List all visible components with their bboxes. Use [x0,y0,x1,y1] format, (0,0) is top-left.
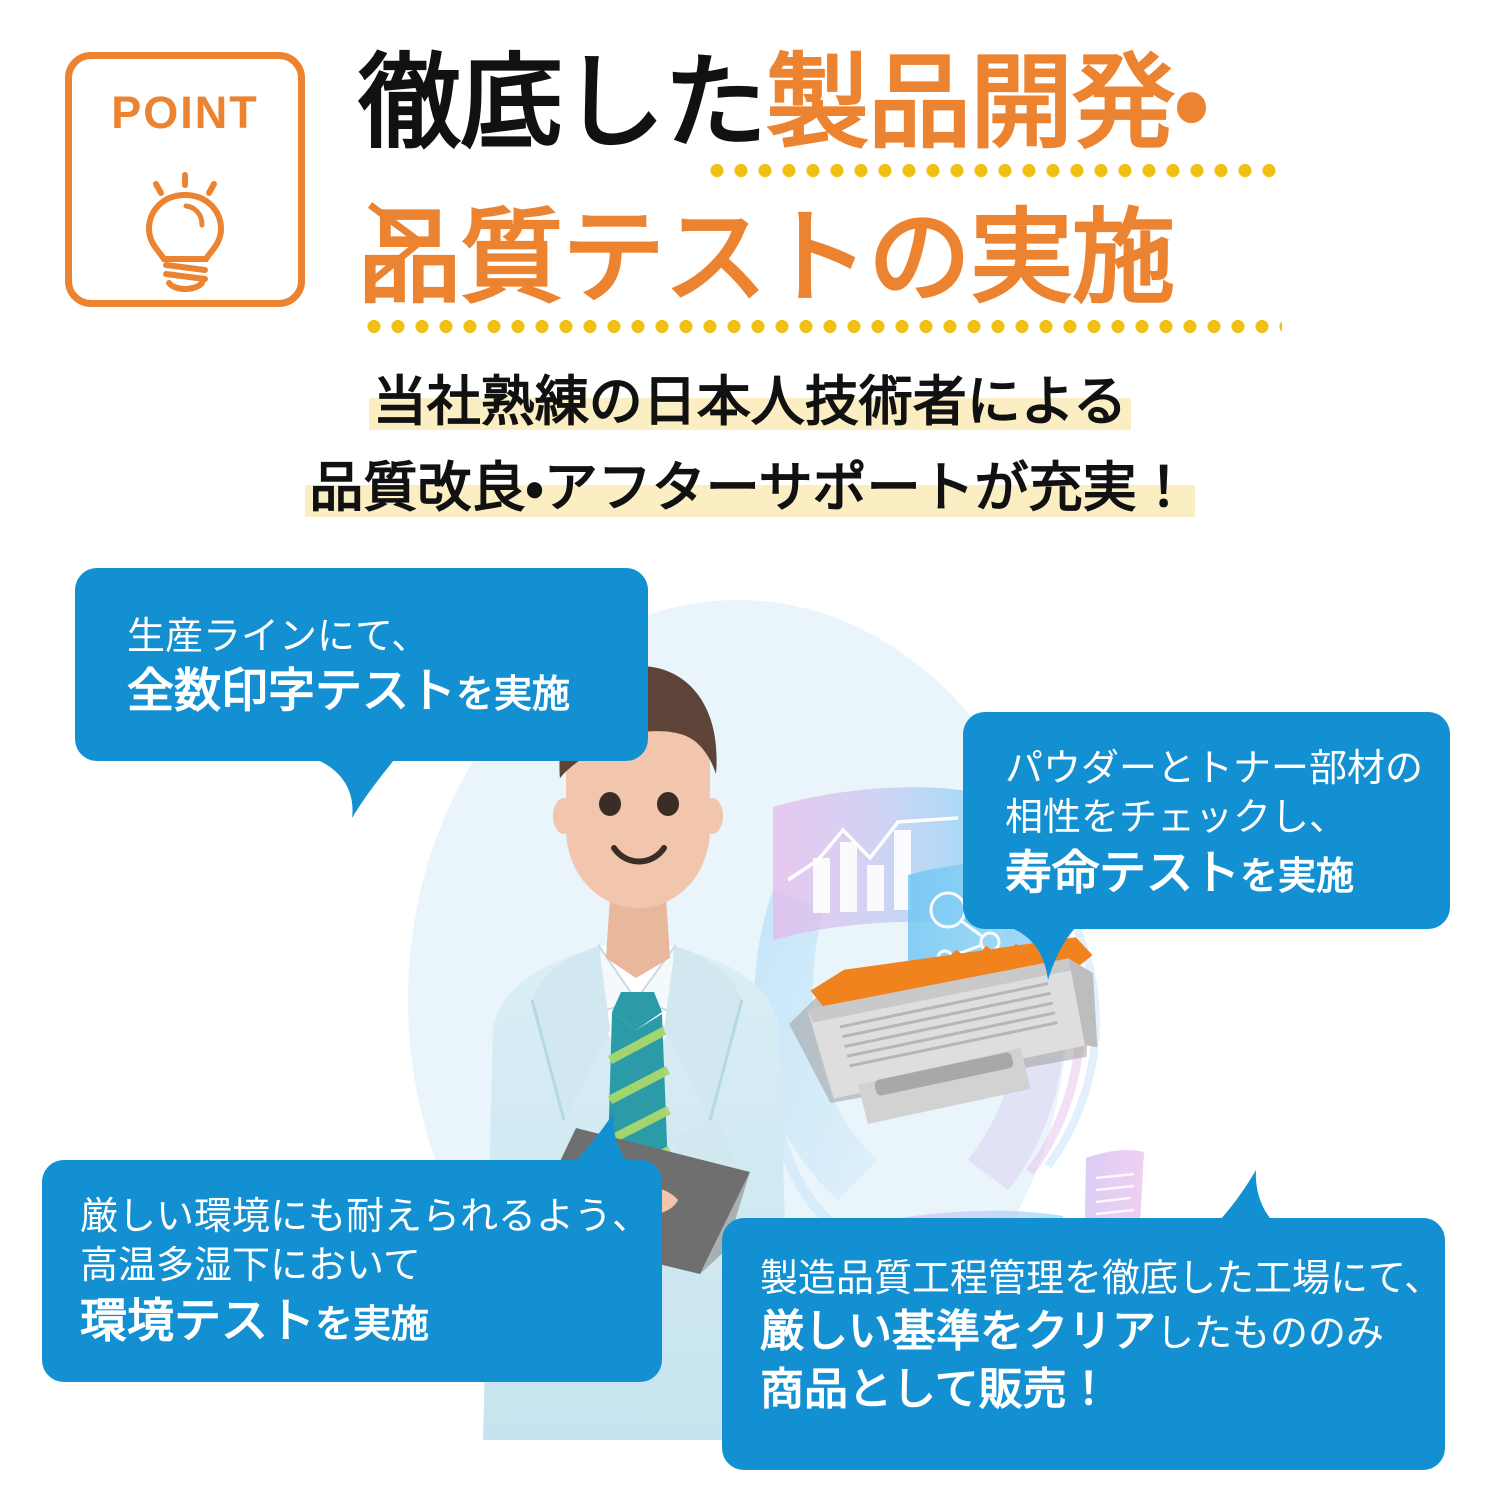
subtitle-row-2: 品質改良・アフターサポートが充実！ [0,452,1500,524]
subtitle-line-1: 当社熟練の日本人技術者による [373,370,1127,433]
headline-dotted-underline-1 [705,164,1280,177]
point-badge: POINT [65,52,305,307]
bubble-1-line-2: 全数印字テストを実施 [127,661,648,722]
factory-standard-bubble: 製造品質工程管理を徹底した工場にて、 厳しい基準をクリアしたもののみ 商品として… [722,1218,1445,1470]
subtitle: 当社熟練の日本人技術者による 品質改良・アフターサポートが充実！ [0,366,1500,539]
eye-right [657,792,679,816]
badge-pointer-icon [368,199,430,289]
bubble-2-line-2: 相性をチェックし、 [1005,793,1450,842]
eye-left [599,792,621,816]
print-test-bubble: 生産ラインにて、 全数印字テストを実施 [75,568,648,761]
bubble-1-tail-icon [298,748,418,823]
bubble-1-line-2-tail: を実施 [456,672,570,716]
headline-line1-orange: 製品開発・ [766,43,1208,163]
bubble-4-line-2-bold: 厳しい基準をクリア [760,1306,1156,1357]
headline-line1-black: 徹底した [358,43,766,163]
life-test-bubble: パウダーとトナー部材の 相性をチェックし、 寿命テストを実施 [963,712,1450,929]
bubble-2-line-3-tail: を実施 [1240,854,1354,898]
bubble-4-line-2-tail: したもののみ [1156,1311,1384,1355]
environment-test-bubble: 厳しい環境にも耐えられるよう、 高温多湿下において 環境テストを実施 [42,1160,662,1382]
headline-line-1: 徹底した製品開発・ [358,48,1458,159]
bubble-4-line-1: 製造品質工程管理を徹底した工場にて、 [760,1254,1445,1303]
infographic-canvas: POINT 徹底した製品開発・ 品質テストの実施 [0,0,1500,1500]
bubble-4-line-2: 厳しい基準をクリアしたもののみ [760,1303,1445,1360]
bubble-3-line-3: 環境テストを実施 [80,1291,662,1352]
subtitle-line-2-wrap: 品質改良・アフターサポートが充実！ [309,452,1190,524]
bubble-1-line-1: 生産ラインにて、 [127,612,648,661]
bubble-3-line-3-bold: 環境テスト [80,1294,315,1349]
headline-dotted-underline-2 [362,320,1282,333]
headline-line2-orange: 品質テストの実施 [358,198,1174,318]
bubble-2-line-3-bold: 寿命テスト [1005,846,1240,901]
bubble-2-line-3: 寿命テストを実施 [1005,843,1450,904]
bubble-3-line-3-tail: を実施 [315,1302,429,1346]
bubble-3-line-2: 高温多湿下において [80,1241,662,1290]
headline: 徹底した製品開発・ 品質テストの実施 [358,48,1458,333]
bubble-3-line-1: 厳しい環境にも耐えられるよう、 [80,1192,662,1241]
subtitle-line-2: 品質改良・アフターサポートが充実！ [309,456,1190,519]
headline-line-2: 品質テストの実施 [358,203,1458,314]
bubble-1-line-2-bold: 全数印字テスト [127,664,456,719]
bubble-2-tail-icon [986,918,1096,988]
lightbulb-icon [125,167,245,297]
subtitle-line-1-wrap: 当社熟練の日本人技術者による [373,366,1127,438]
bubble-2-line-1: パウダーとトナー部材の [1005,744,1450,793]
point-label: POINT [72,87,298,139]
subtitle-row-1: 当社熟練の日本人技術者による [0,366,1500,438]
bubble-4-line-3: 商品として販売！ [760,1361,1445,1418]
